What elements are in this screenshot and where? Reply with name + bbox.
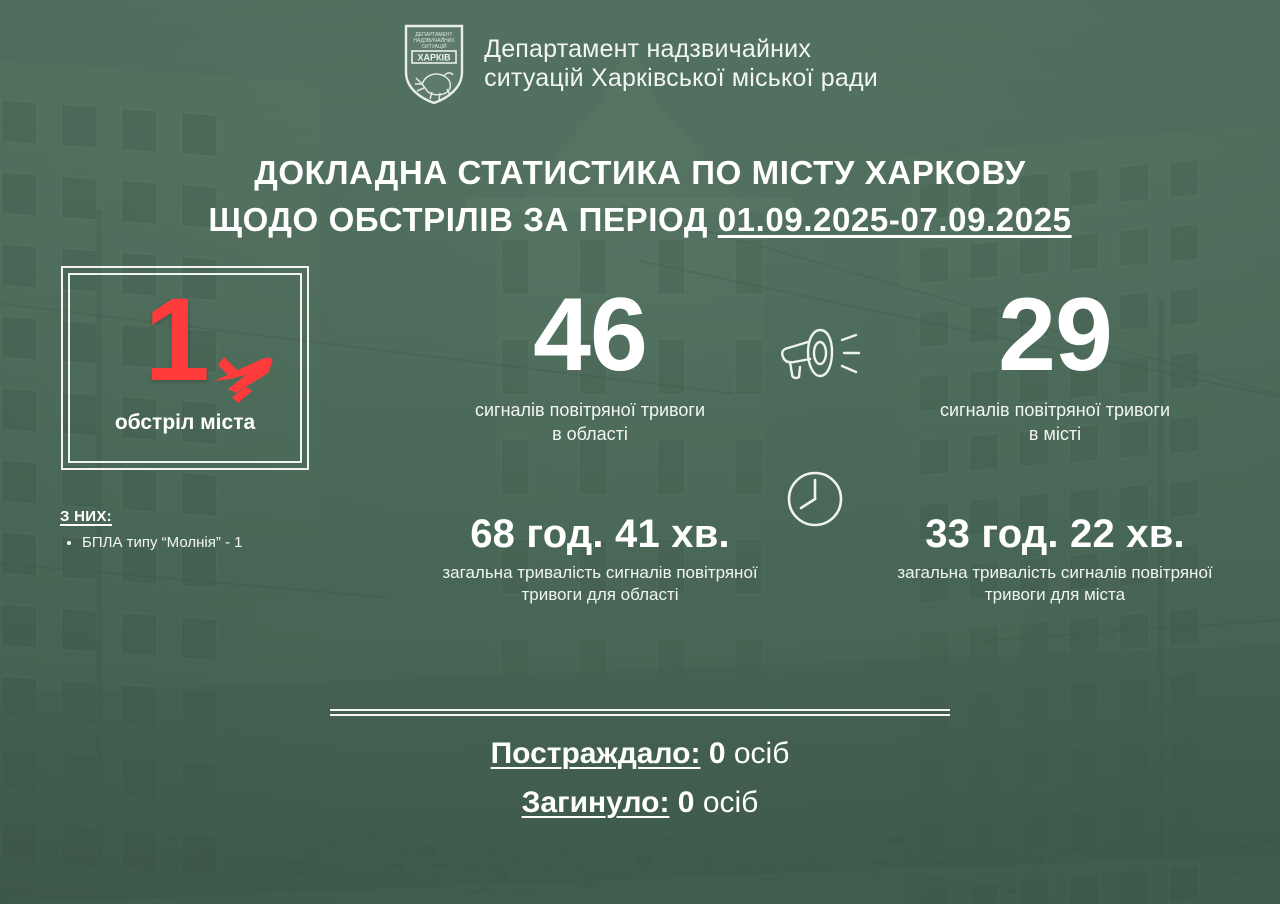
breakdown-title: З НИХ:	[60, 508, 360, 525]
stat-alarms-oblast-value: 46	[430, 286, 750, 385]
casualties-killed-value: 0	[678, 786, 695, 819]
divider-line	[330, 714, 950, 716]
casualties-killed-label: Загинуло:	[522, 786, 670, 819]
shield-emblem-icon: ДЕПАРТАМЕНТ НАДЗВИЧАЙНИХ СИТУАЦІЙ ХАРКІВ	[402, 22, 466, 106]
header: ДЕПАРТАМЕНТ НАДЗВИЧАЙНИХ СИТУАЦІЙ ХАРКІВ…	[0, 22, 1280, 106]
casualties-killed-row: Загинуло: 0 осіб	[0, 779, 1280, 828]
main-title: ДОКЛАДНА СТАТИСТИКА ПО МІСТУ ХАРКОВУ ЩОД…	[0, 150, 1280, 244]
duration-oblast-value: 68 год. 41 хв.	[380, 512, 820, 556]
section-divider	[330, 709, 950, 716]
duration-city-caption: загальна тривалість сигналів повітряної …	[835, 562, 1275, 606]
divider-line	[330, 709, 950, 711]
svg-text:НАДЗВИЧАЙНИХ: НАДЗВИЧАЙНИХ	[413, 36, 455, 44]
duration-oblast-caption: загальна тривалість сигналів повітряної …	[380, 562, 820, 606]
stat-alarms-city-value: 29	[895, 286, 1215, 385]
reporting-period: 01.09.2025-07.09.2025	[718, 201, 1072, 238]
duration-oblast: 68 год. 41 хв. загальна тривалість сигна…	[380, 512, 820, 606]
shelling-card-inner-frame: 1 обстріл міста	[68, 273, 302, 463]
casualties-injured-unit: осіб	[734, 737, 790, 770]
duration-city: 33 год. 22 хв. загальна тривалість сигна…	[835, 512, 1275, 606]
airplane-icon	[206, 337, 278, 409]
casualties-killed-unit: осіб	[703, 786, 759, 819]
stat-alarms-oblast: 46 сигналів повітряної тривоги в області	[430, 286, 750, 446]
breakdown-list-item: БПЛА типу “Молнія” - 1	[82, 532, 360, 555]
breakdown-block: З НИХ: БПЛА типу “Молнія” - 1	[60, 508, 360, 555]
stat-alarms-city-caption: сигналів повітряної тривоги в місті	[895, 399, 1215, 447]
breakdown-list: БПЛА типу “Молнія” - 1	[60, 532, 360, 555]
shelling-count-card: 1 обстріл міста	[61, 266, 309, 470]
shelling-count-value: 1	[144, 281, 210, 399]
casualties-injured-value: 0	[709, 737, 726, 770]
stat-alarms-city: 29 сигналів повітряної тривоги в місті	[895, 286, 1215, 446]
duration-city-value: 33 год. 22 хв.	[835, 512, 1275, 556]
casualties-block: Постраждало: 0 осіб Загинуло: 0 осіб	[0, 730, 1280, 827]
organization-name: Департамент надзвичайних ситуацій Харків…	[484, 35, 878, 94]
svg-text:ХАРКІВ: ХАРКІВ	[418, 53, 451, 63]
stat-alarms-oblast-caption: сигналів повітряної тривоги в області	[430, 399, 750, 447]
title-line-2-prefix: ЩОДО ОБСТРІЛІВ ЗА ПЕРІОД	[208, 201, 717, 238]
megaphone-icon	[770, 322, 862, 394]
casualties-injured-label: Постраждало:	[491, 737, 701, 770]
casualties-injured-row: Постраждало: 0 осіб	[0, 730, 1280, 779]
svg-text:СИТУАЦІЙ: СИТУАЦІЙ	[422, 42, 448, 50]
title-line-1: ДОКЛАДНА СТАТИСТИКА ПО МІСТУ ХАРКОВУ	[0, 150, 1280, 197]
title-line-2: ЩОДО ОБСТРІЛІВ ЗА ПЕРІОД 01.09.2025-07.0…	[0, 197, 1280, 244]
shelling-card-label: обстріл міста	[70, 411, 300, 435]
